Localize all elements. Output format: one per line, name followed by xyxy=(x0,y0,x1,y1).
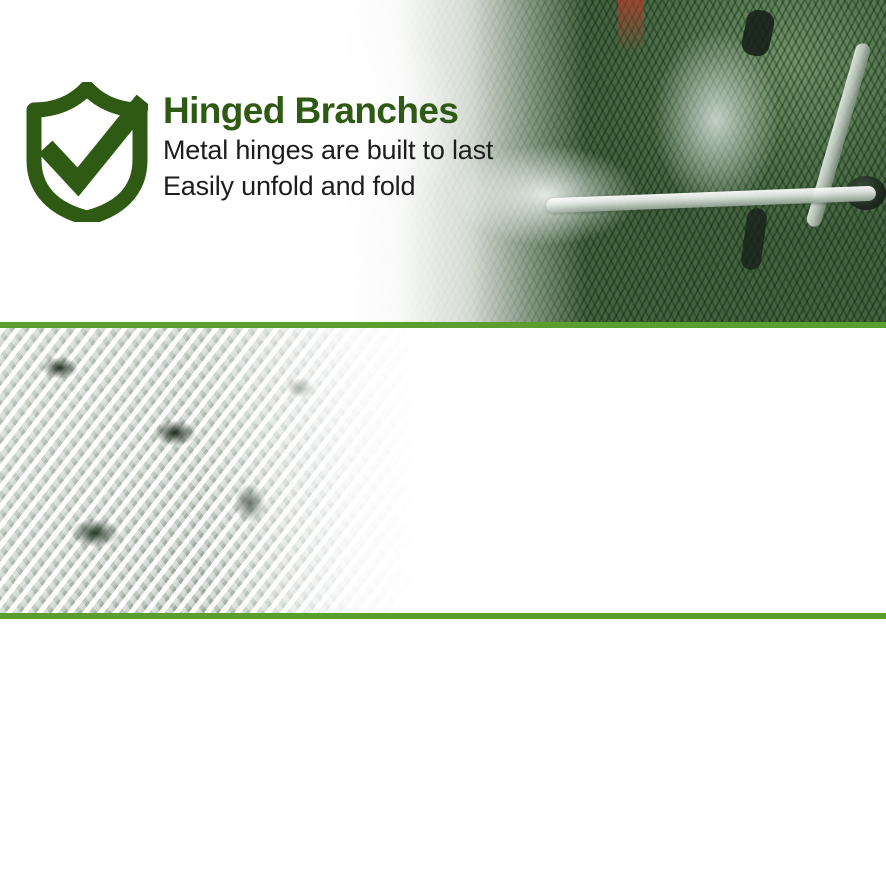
photo-white-fade-overlay-right xyxy=(200,328,420,613)
text-block-hinged: Hinged Branches Metal hinges are built t… xyxy=(163,92,493,204)
photo-dark-branch-slot-lower xyxy=(740,207,768,271)
panel-sturdy-metal-base: Sturdy Metal Base Metal stand can suppor… xyxy=(0,620,886,887)
panel-environmental-safe-material: Environmental Safe Material Non-flammabl… xyxy=(0,328,886,613)
divider-line-2 xyxy=(0,613,886,619)
body-hinged-line-2: Easily unfold and fold xyxy=(163,169,493,204)
panel-hinged-branches: Hinged Branches Metal hinges are built t… xyxy=(0,0,886,322)
photo-dark-branch-slot xyxy=(740,8,777,59)
product-feature-infographic: Hinged Branches Metal hinges are built t… xyxy=(0,0,886,887)
photo-frosted-hinge-rod xyxy=(546,186,876,214)
flocked-tree-photo xyxy=(0,328,420,613)
shield-check-icon xyxy=(26,82,148,222)
body-hinged-line-1: Metal hinges are built to last xyxy=(163,133,493,168)
heading-hinged-branches: Hinged Branches xyxy=(163,92,493,131)
photo-red-ornament-accent xyxy=(618,0,644,54)
